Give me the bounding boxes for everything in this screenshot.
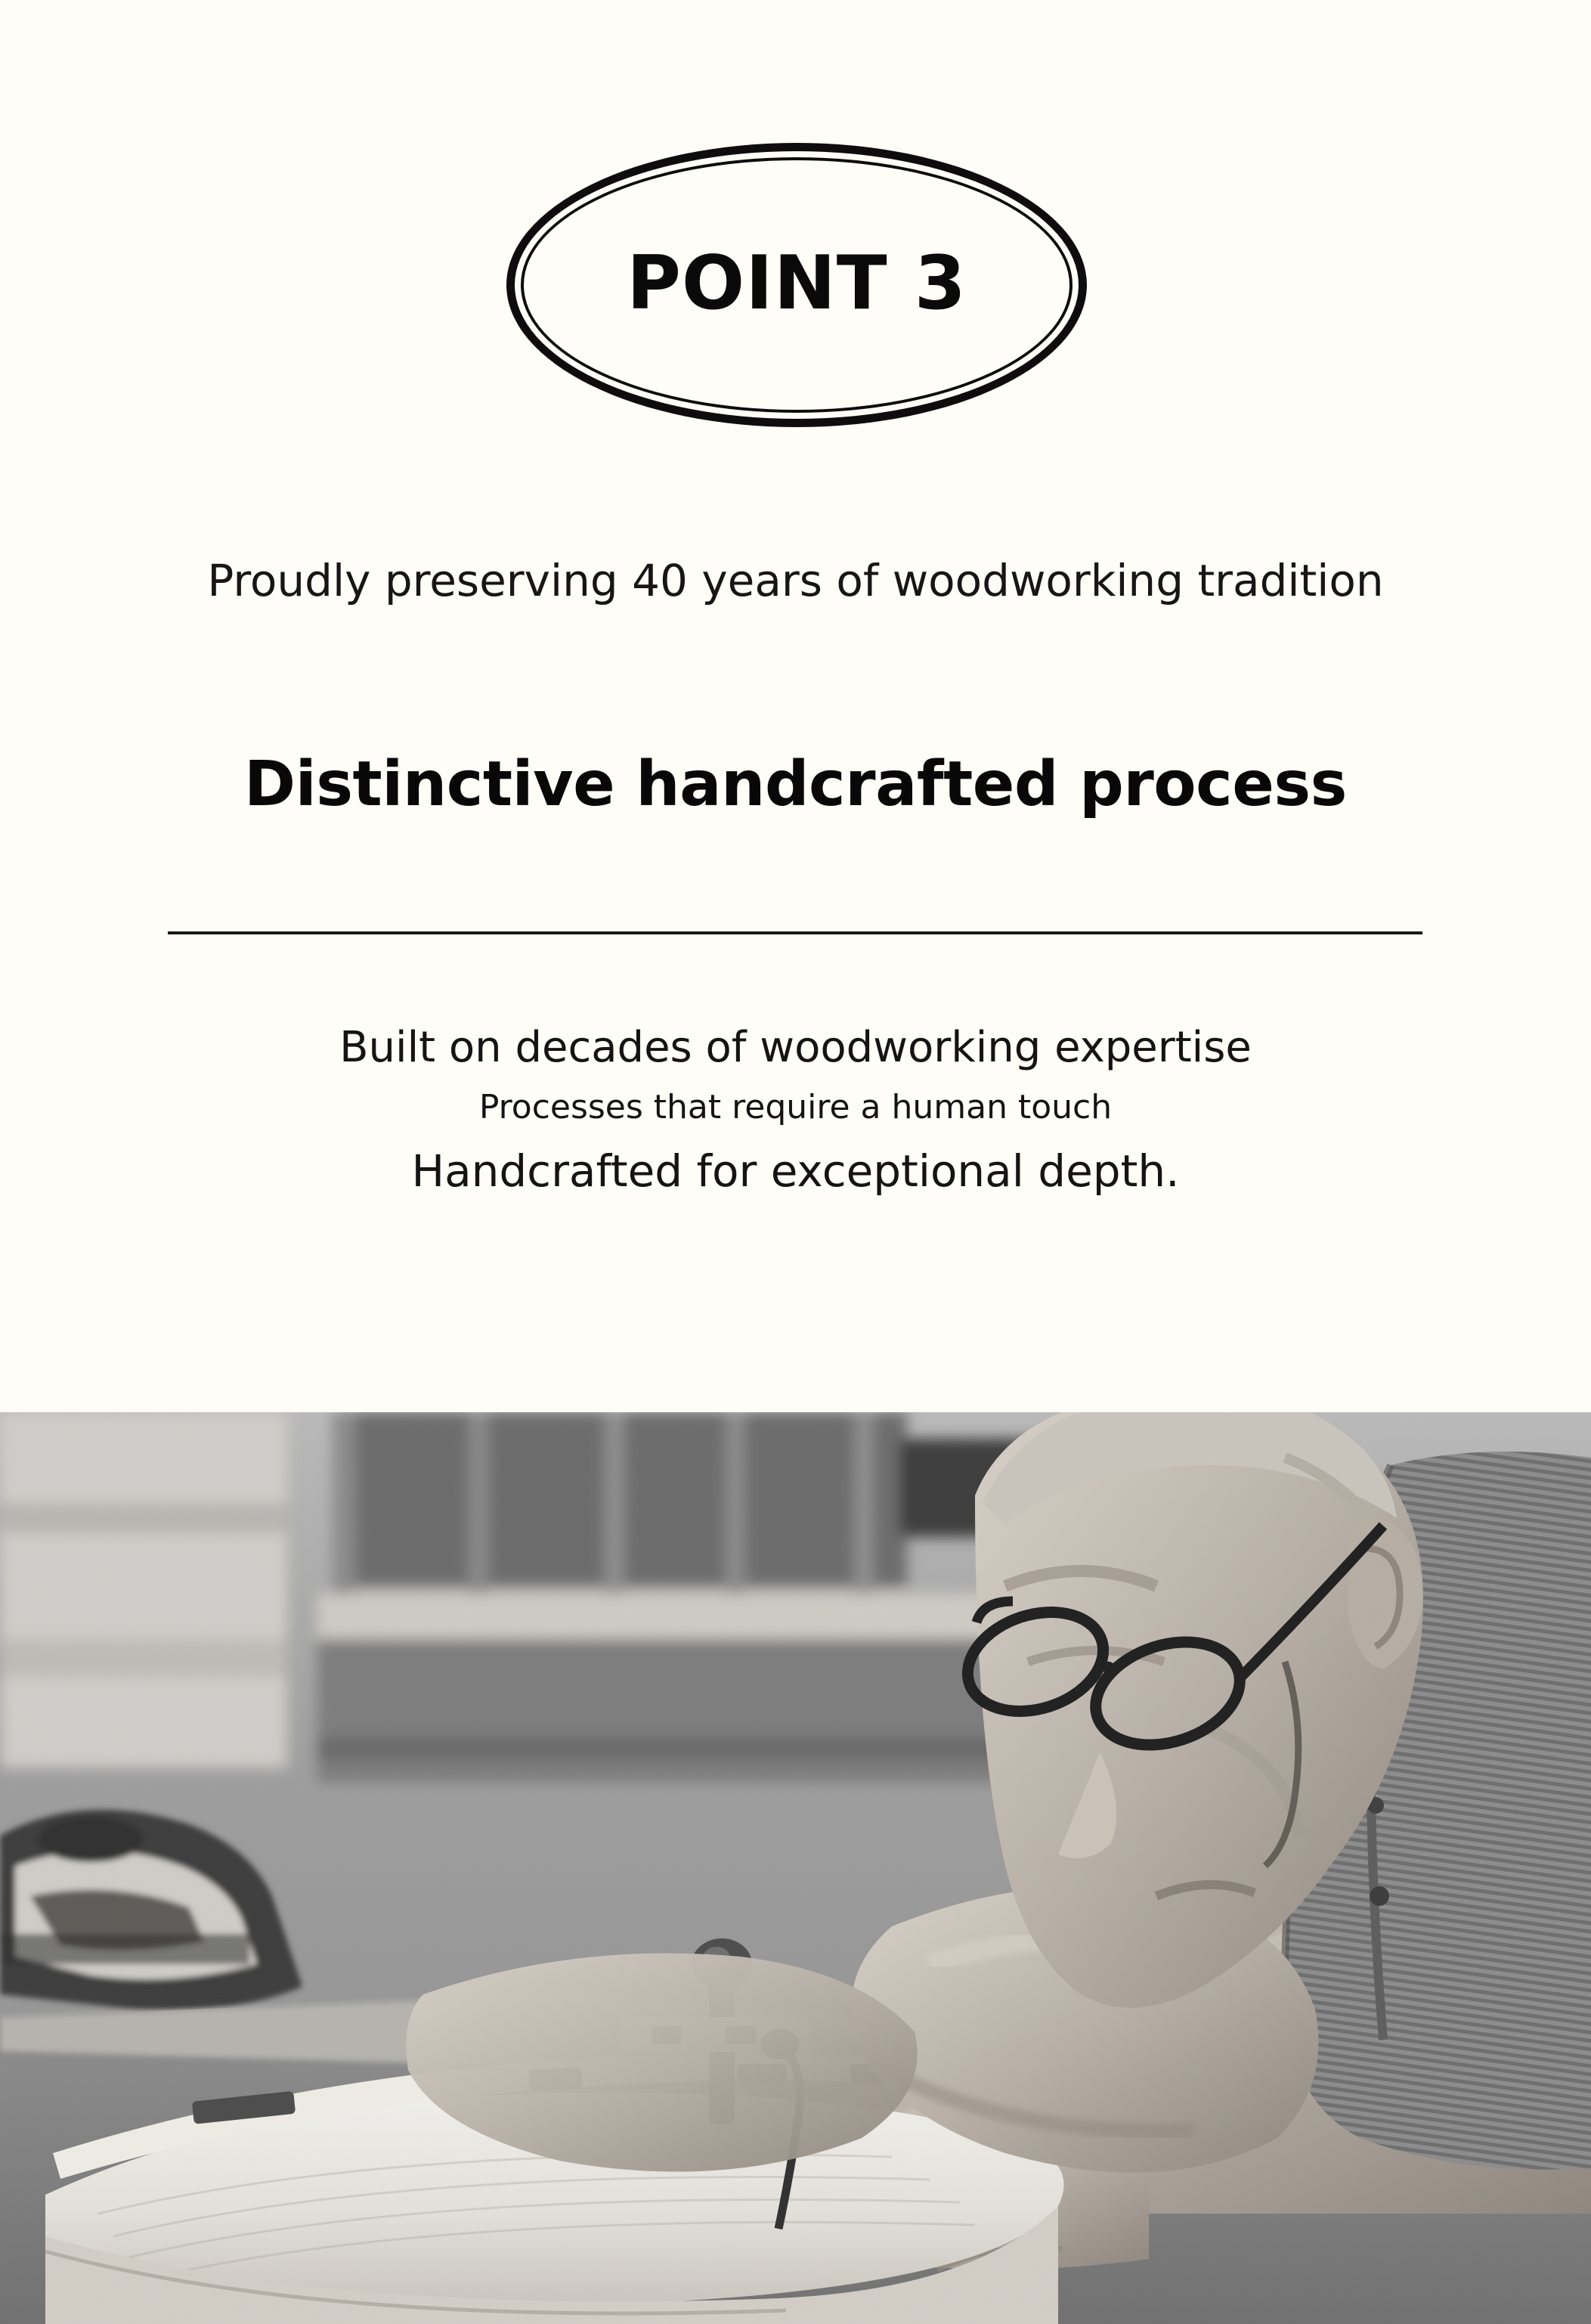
eyebrow-text: Proudly preserving 40 years of woodworki… <box>0 556 1591 606</box>
point-badge-inner-ring: POINT 3 <box>521 157 1073 413</box>
poster-page: POINT 3 Proudly preserving 40 years of w… <box>0 0 1591 2324</box>
section-divider <box>168 931 1422 934</box>
page-title: Distinctive handcrafted process <box>0 751 1591 819</box>
point-badge-label: POINT 3 <box>627 246 967 321</box>
point-badge-outer-ring: POINT 3 <box>506 143 1087 427</box>
badge-area: POINT 3 <box>0 0 1591 529</box>
craftsman-photo-illustration <box>0 1412 1591 2324</box>
list-item: Handcrafted for exceptional depth. <box>0 1145 1591 1198</box>
list-item: Processes that require a human touch <box>0 1087 1591 1128</box>
craftsman-photo <box>0 1412 1591 2324</box>
bullet-list: Built on decades of woodworking expertis… <box>0 1022 1591 1198</box>
list-item: Built on decades of woodworking expertis… <box>0 1022 1591 1074</box>
